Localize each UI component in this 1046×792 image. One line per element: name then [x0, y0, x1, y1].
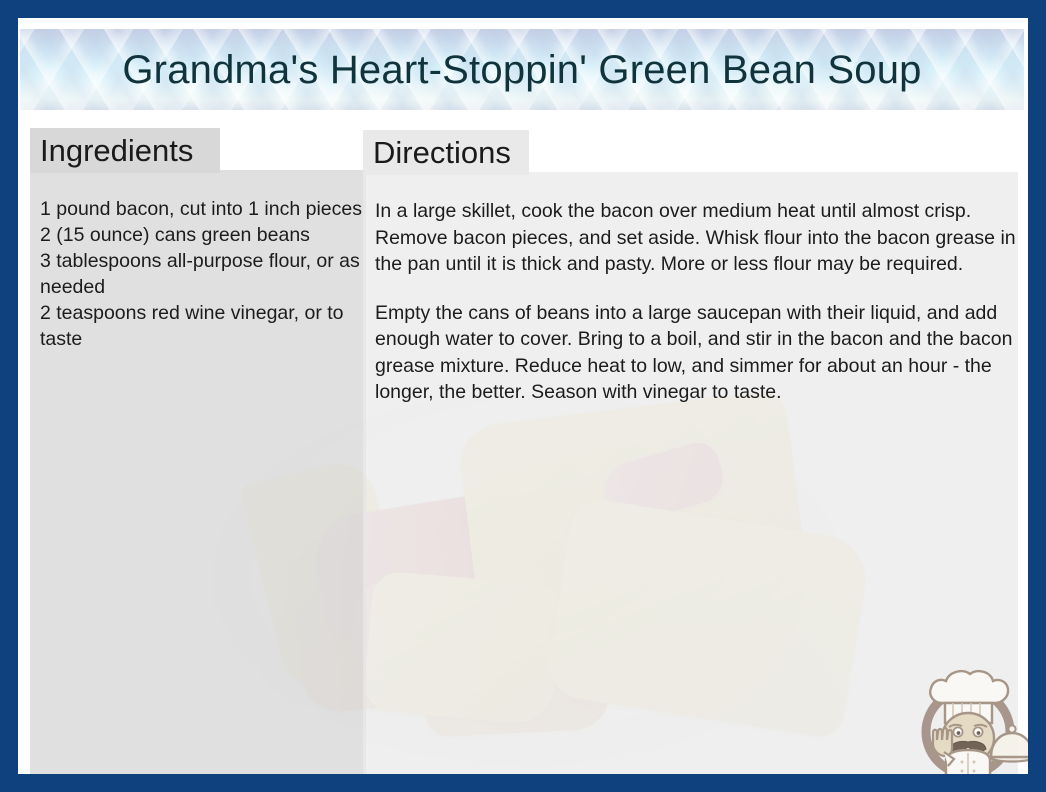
- ingredient-item: 2 teaspoons red wine vinegar, or to tast…: [40, 300, 362, 352]
- ingredients-heading: Ingredients: [40, 135, 193, 166]
- ingredient-item: 3 tablespoons all-purpose flour, or as n…: [40, 248, 362, 300]
- chef-mascot-logo: [904, 656, 1028, 774]
- ingredients-header-tab: Ingredients: [30, 128, 220, 173]
- recipe-card: Grandma's Heart-Stoppin' Green Bean Soup…: [0, 0, 1046, 792]
- ingredient-item: 2 (15 ounce) cans green beans: [40, 222, 362, 248]
- ingredients-list: 1 pound bacon, cut into 1 inch pieces 2 …: [40, 196, 362, 352]
- direction-paragraph: Empty the cans of beans into a large sau…: [375, 300, 1025, 406]
- direction-paragraph: In a large skillet, cook the bacon over …: [375, 198, 1025, 278]
- directions-heading: Directions: [373, 137, 511, 168]
- directions-body: In a large skillet, cook the bacon over …: [375, 198, 1025, 406]
- ingredient-item: 1 pound bacon, cut into 1 inch pieces: [40, 196, 362, 222]
- title-banner: Grandma's Heart-Stoppin' Green Bean Soup: [20, 29, 1024, 110]
- card-stage: Grandma's Heart-Stoppin' Green Bean Soup…: [18, 18, 1028, 774]
- cloche-serving-dome-icon: [990, 725, 1028, 761]
- directions-header-tab: Directions: [363, 130, 529, 175]
- recipe-title: Grandma's Heart-Stoppin' Green Bean Soup: [122, 50, 921, 90]
